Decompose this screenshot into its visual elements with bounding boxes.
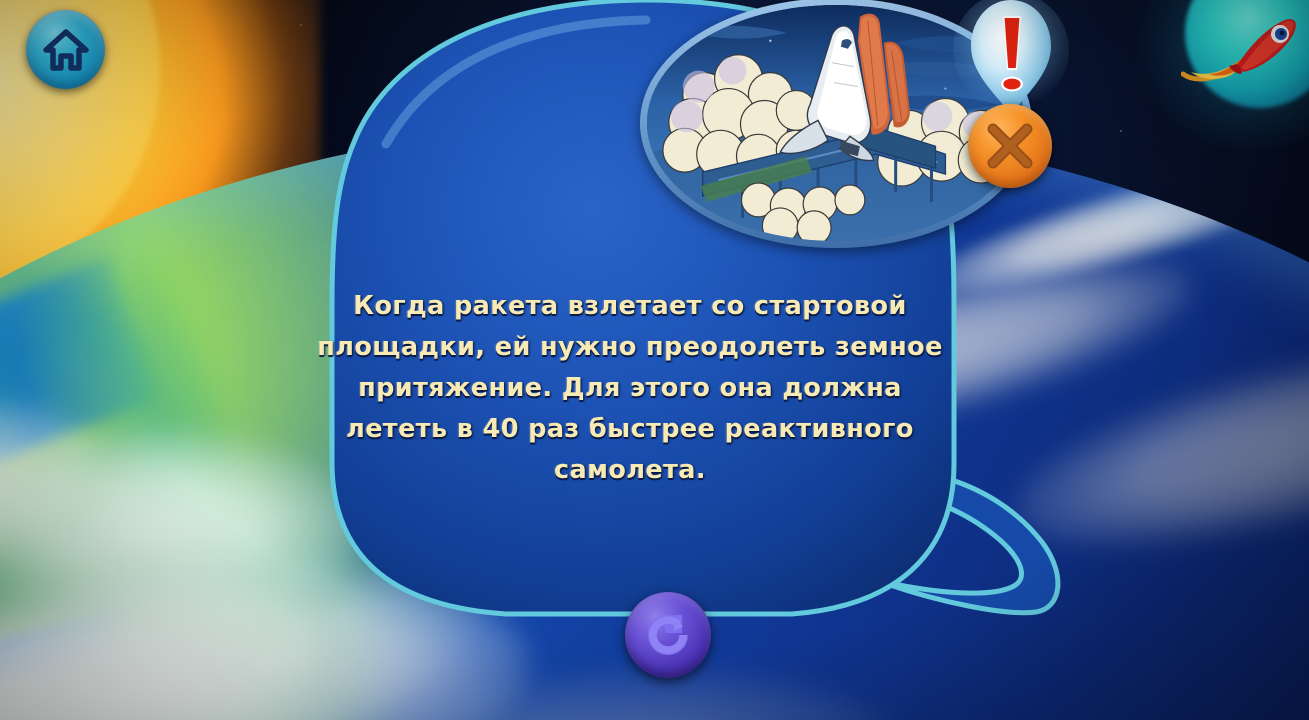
home-icon bbox=[43, 28, 89, 72]
replay-icon bbox=[640, 607, 696, 663]
game-screen: Когда ракета взлетает со стартовой площа… bbox=[0, 0, 1309, 720]
close-x-icon bbox=[984, 120, 1036, 172]
close-button[interactable] bbox=[968, 104, 1052, 188]
replay-button[interactable] bbox=[625, 592, 711, 678]
dialog-text: Когда ракета взлетает со стартовой площа… bbox=[300, 286, 960, 491]
home-button[interactable] bbox=[26, 10, 105, 89]
red-rocket-icon bbox=[1181, 12, 1301, 88]
hint-button[interactable] bbox=[951, 0, 1071, 120]
dialog-bubble: Когда ракета взлетает со стартовой площа… bbox=[236, 0, 1056, 674]
exclamation-balloon-icon bbox=[951, 0, 1071, 120]
